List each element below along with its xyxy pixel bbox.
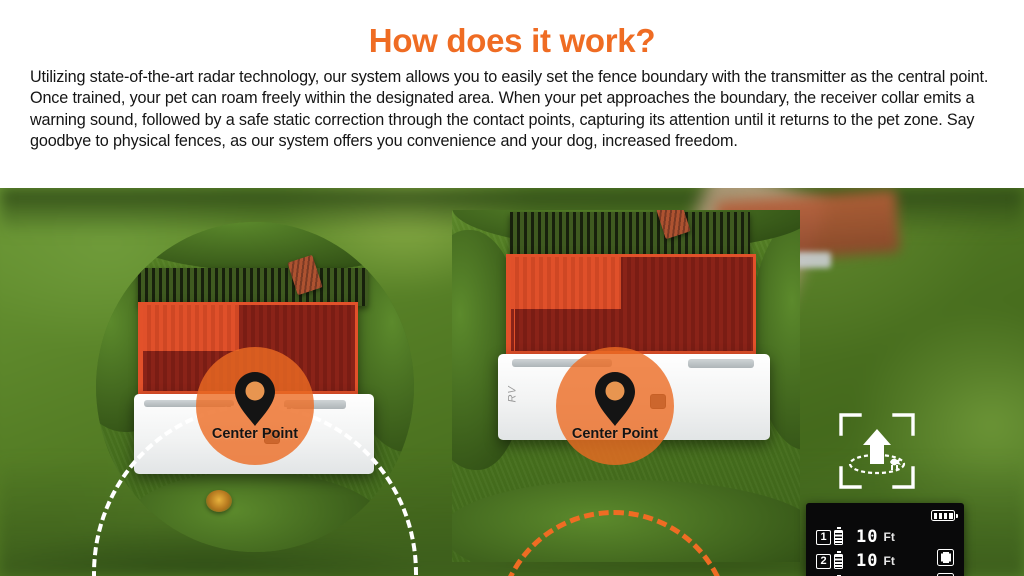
channel-number: 1 <box>816 530 831 545</box>
right-bush-south <box>452 480 800 562</box>
map-pin-icon <box>592 370 638 428</box>
map-pin-icon <box>232 370 278 428</box>
right-center-point-label: Center Point <box>572 426 658 442</box>
channel-row[interactable]: 1 10 Ft <box>816 525 895 549</box>
page-title: How does it work? <box>0 0 1024 59</box>
intro-text-block: How does it work? Utilizing state-of-the… <box>0 0 1024 188</box>
left-planter <box>206 490 232 512</box>
channel-row[interactable]: 2 10 Ft <box>816 549 895 573</box>
aerial-diagram-photo: RV Center Point Center Point <box>0 188 1024 576</box>
channel-distance: 10 <box>856 527 878 547</box>
channel-number: 2 <box>816 554 831 569</box>
right-center-point-badge: Center Point <box>556 347 674 465</box>
battery-full-icon <box>931 510 955 521</box>
channel-rows: 1 10 Ft 2 10 Ft 3 10 Ft <box>816 525 895 576</box>
left-pergola <box>138 268 368 306</box>
collar-battery-icon <box>834 530 843 545</box>
collar-battery-icon <box>834 554 843 569</box>
left-roof-rail <box>138 302 146 394</box>
background-vehicle <box>795 252 831 268</box>
right-house-roof <box>508 254 756 354</box>
channel-unit: Ft <box>883 554 894 568</box>
left-center-point-badge: Center Point <box>196 347 314 465</box>
right-pergola <box>510 212 750 256</box>
channel-unit: Ft <box>883 530 894 544</box>
transmitter-coverage-icon <box>838 412 916 490</box>
right-roof-rail <box>506 254 515 354</box>
left-center-point-label: Center Point <box>212 426 298 442</box>
receiver-display-10ft[interactable]: 1 10 Ft 2 10 Ft 3 10 Ft M <box>806 503 964 576</box>
channel-distance: 10 <box>856 551 878 571</box>
rv-brand-decal: RV <box>507 385 519 402</box>
intro-paragraph: Utilizing state-of-the-art radar technol… <box>0 59 1024 153</box>
vibration-mode-icon[interactable] <box>937 549 954 566</box>
